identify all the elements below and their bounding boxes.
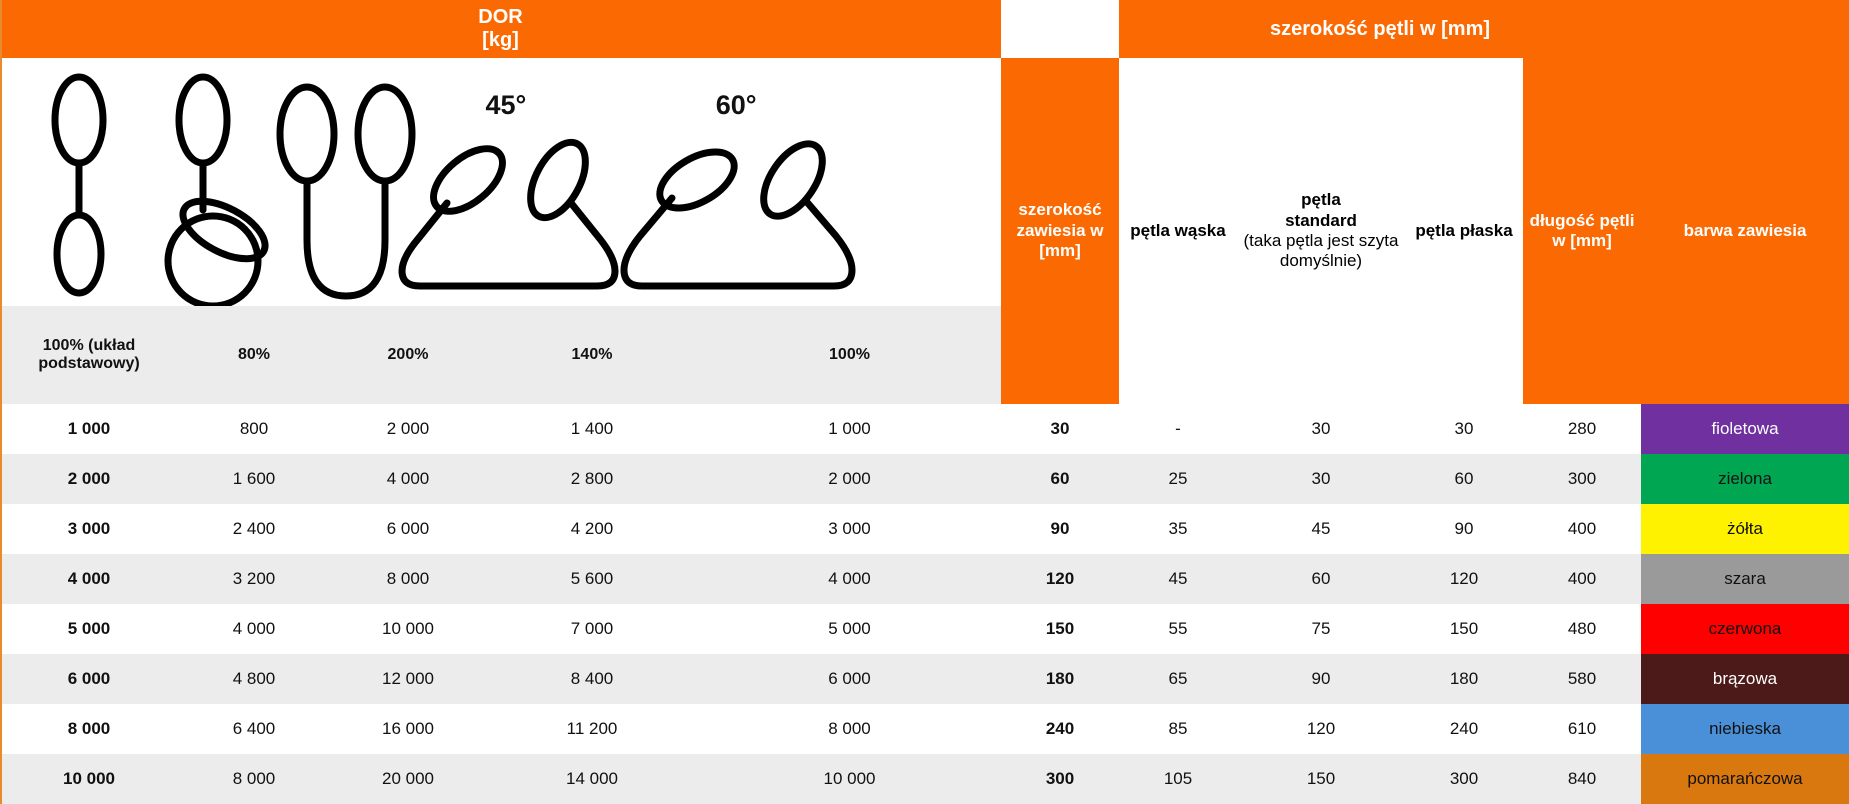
cell-dor: 4 200 [486, 504, 698, 554]
cell-dor: 8 000 [0, 704, 178, 754]
basket-sling-icon [280, 87, 334, 181]
cell-loop-length: 580 [1523, 654, 1641, 704]
angle-label-60: 60° [716, 90, 757, 121]
cell-dor: 14 000 [486, 754, 698, 804]
cell-dor: 7 000 [486, 604, 698, 654]
cell-loop-standard: 90 [1237, 654, 1405, 704]
cell-loop-narrow: 105 [1119, 754, 1237, 804]
cell-dor: 2 000 [330, 404, 486, 454]
percent-cell: 80% [178, 306, 330, 404]
cell-loop-narrow: 25 [1119, 454, 1237, 504]
cell-sling-width: 180 [1001, 654, 1119, 704]
cell-dor: 11 200 [486, 704, 698, 754]
cell-loop-flat: 150 [1405, 604, 1523, 654]
cell-loop-length: 840 [1523, 754, 1641, 804]
header-loop-standard-line1: pętla [1301, 190, 1341, 210]
cell-dor: 800 [178, 404, 330, 454]
header-dor-unit: [kg] [482, 29, 519, 52]
header-sling-colour: barwa zawiesia [1641, 58, 1849, 404]
cell-loop-standard: 30 [1237, 404, 1405, 454]
cell-dor: 10 000 [0, 754, 178, 804]
header-sling-width: szerokość zawiesia w [mm] [1001, 58, 1119, 404]
cell-loop-narrow: - [1119, 404, 1237, 454]
header-loop-width: szerokość pętli w [mm] [1119, 0, 1641, 58]
cell-sling-colour: niebieska [1641, 704, 1849, 754]
spacer-top-width [1001, 0, 1119, 58]
cell-loop-length: 300 [1523, 454, 1641, 504]
cell-dor: 3 000 [698, 504, 1001, 554]
cell-sling-colour: czerwona [1641, 604, 1849, 654]
cell-loop-length: 480 [1523, 604, 1641, 654]
cell-sling-colour: żółta [1641, 504, 1849, 554]
cell-dor: 5 000 [0, 604, 178, 654]
cell-sling-colour: pomarańczowa [1641, 754, 1849, 804]
cell-loop-narrow: 45 [1119, 554, 1237, 604]
cell-sling-width: 30 [1001, 404, 1119, 454]
cell-dor: 1 600 [178, 454, 330, 504]
cell-loop-length: 400 [1523, 504, 1641, 554]
cell-loop-standard: 30 [1237, 454, 1405, 504]
cell-dor: 3 200 [178, 554, 330, 604]
angle-label-45: 45° [485, 90, 526, 121]
table-grid: DOR [kg] szerokość pętli w [mm] [0, 0, 1849, 804]
percent-cell: 100% (układ podstawowy) [0, 306, 178, 404]
cell-dor: 1 400 [486, 404, 698, 454]
two-leg-45-sling-icon [402, 133, 615, 286]
cell-loop-narrow: 35 [1119, 504, 1237, 554]
cell-loop-length: 610 [1523, 704, 1641, 754]
cell-sling-colour: szara [1641, 554, 1849, 604]
cell-dor: 4 800 [178, 654, 330, 704]
cell-dor: 8 000 [698, 704, 1001, 754]
cell-dor: 12 000 [330, 654, 486, 704]
cell-dor: 8 000 [178, 754, 330, 804]
cell-sling-width: 240 [1001, 704, 1119, 754]
cell-dor: 8 000 [330, 554, 486, 604]
cell-loop-flat: 300 [1405, 754, 1523, 804]
cell-dor: 1 000 [698, 404, 1001, 454]
cell-loop-narrow: 65 [1119, 654, 1237, 704]
cell-dor: 2 000 [698, 454, 1001, 504]
cell-sling-colour: brązowa [1641, 654, 1849, 704]
cell-dor: 6 000 [698, 654, 1001, 704]
cell-dor: 20 000 [330, 754, 486, 804]
header-dor: DOR [kg] [0, 0, 1001, 58]
cell-loop-standard: 45 [1237, 504, 1405, 554]
sling-capacity-table: DOR [kg] szerokość pętli w [mm] [0, 0, 1849, 804]
cell-sling-colour: zielona [1641, 454, 1849, 504]
cell-loop-flat: 90 [1405, 504, 1523, 554]
two-leg-60-sling-icon [624, 134, 852, 286]
spacer-top-colour [1641, 0, 1849, 58]
percent-cell: 100% [698, 306, 1001, 404]
cell-dor: 4 000 [698, 554, 1001, 604]
cell-loop-standard: 120 [1237, 704, 1405, 754]
cell-loop-standard: 75 [1237, 604, 1405, 654]
cell-sling-width: 90 [1001, 504, 1119, 554]
cell-loop-narrow: 85 [1119, 704, 1237, 754]
header-loop-narrow: pętla wąska [1119, 58, 1237, 404]
sling-configuration-diagrams: 45° 60° [0, 58, 1001, 306]
cell-dor: 4 000 [0, 554, 178, 604]
header-dor-title: DOR [478, 6, 522, 29]
percent-cell: 140% [486, 306, 698, 404]
header-loop-standard: pętla standard (taka pętla jest szyta do… [1237, 58, 1405, 404]
cell-dor: 5 600 [486, 554, 698, 604]
cell-loop-narrow: 55 [1119, 604, 1237, 654]
cell-dor: 6 000 [330, 504, 486, 554]
cell-dor: 3 000 [0, 504, 178, 554]
header-loop-standard-line2: standard [1285, 211, 1357, 231]
choker-sling-icon [179, 77, 227, 163]
cell-loop-standard: 60 [1237, 554, 1405, 604]
cell-loop-standard: 150 [1237, 754, 1405, 804]
cell-loop-length: 280 [1523, 404, 1641, 454]
cell-loop-flat: 240 [1405, 704, 1523, 754]
cell-dor: 2 800 [486, 454, 698, 504]
cell-sling-width: 300 [1001, 754, 1119, 804]
cell-dor: 8 400 [486, 654, 698, 704]
cell-dor: 6 000 [0, 654, 178, 704]
cell-dor: 4 000 [178, 604, 330, 654]
cell-loop-length: 400 [1523, 554, 1641, 604]
cell-loop-flat: 180 [1405, 654, 1523, 704]
cell-dor: 6 400 [178, 704, 330, 754]
cell-dor: 1 000 [0, 404, 178, 454]
header-loop-standard-note: (taka pętla jest szyta domyślnie) [1237, 231, 1405, 272]
cell-loop-flat: 120 [1405, 554, 1523, 604]
cell-dor: 2 000 [0, 454, 178, 504]
cell-loop-flat: 60 [1405, 454, 1523, 504]
cell-sling-width: 150 [1001, 604, 1119, 654]
cell-sling-width: 120 [1001, 554, 1119, 604]
cell-dor: 5 000 [698, 604, 1001, 654]
cell-sling-width: 60 [1001, 454, 1119, 504]
percent-cell: 200% [330, 306, 486, 404]
header-loop-flat: pętla płaska [1405, 58, 1523, 404]
cell-dor: 16 000 [330, 704, 486, 754]
header-loop-length: długość pętli w [mm] [1523, 58, 1641, 404]
cell-dor: 4 000 [330, 454, 486, 504]
cell-loop-flat: 30 [1405, 404, 1523, 454]
cell-dor: 10 000 [330, 604, 486, 654]
cell-dor: 2 400 [178, 504, 330, 554]
straight-sling-icon [55, 77, 103, 163]
cell-dor: 10 000 [698, 754, 1001, 804]
cell-sling-colour: fioletowa [1641, 404, 1849, 454]
